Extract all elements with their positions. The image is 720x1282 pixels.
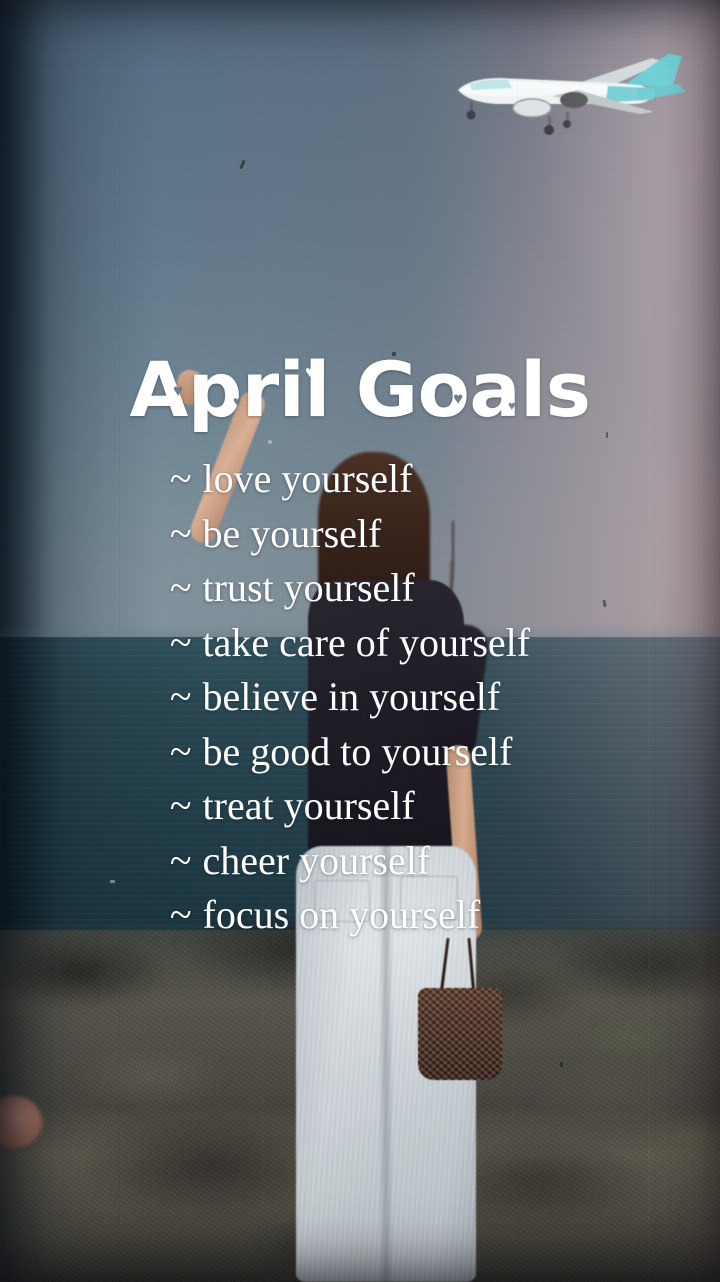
tilde-marker: ~ [170,783,192,828]
goal-text: trust yourself [203,565,415,610]
tilde-marker: ~ [170,620,192,665]
goal-text: focus on yourself [203,892,481,937]
tilde-marker: ~ [170,729,192,774]
goal-text: believe in yourself [203,674,501,719]
goal-text: love yourself [203,456,413,501]
goals-list: ~love yourself ~be yourself ~trust yours… [170,446,530,943]
tilde-marker: ~ [170,456,192,501]
tilde-marker: ~ [170,511,192,556]
tilde-marker: ~ [170,892,192,937]
list-item: ~believe in yourself [170,670,530,725]
page-title: April Goals [0,0,720,428]
list-item: ~love yourself [170,452,530,507]
tilde-marker: ~ [170,674,192,719]
goal-text: take care of yourself [203,620,531,665]
list-item: ~trust yourself [170,561,530,616]
poster-text: April Goals ♥ ♥ ♥ ♥ ♥ ~love yourself ~be… [0,0,720,943]
tilde-marker: ~ [170,565,192,610]
poster-canvas: April Goals ♥ ♥ ♥ ♥ ♥ ~love yourself ~be… [0,0,720,1282]
goals-list-wrapper: ~love yourself ~be yourself ~trust yours… [0,446,720,943]
list-item: ~focus on yourself [170,888,530,943]
tilde-marker: ~ [170,838,192,883]
list-item: ~take care of yourself [170,616,530,671]
list-item: ~be yourself [170,507,530,562]
goal-text: be yourself [203,511,382,556]
goal-text: cheer yourself [203,838,431,883]
goal-text: treat yourself [203,783,415,828]
list-item: ~cheer yourself [170,834,530,889]
list-item: ~treat yourself [170,779,530,834]
list-item: ~be good to yourself [170,725,530,780]
woven-basket-bag [418,988,502,1080]
goal-text: be good to yourself [203,729,513,774]
